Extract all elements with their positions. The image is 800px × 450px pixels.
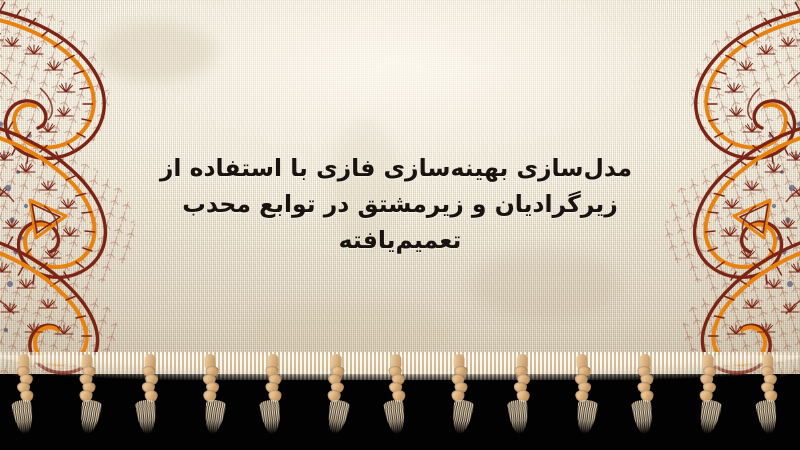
tassel-skirt bbox=[383, 399, 408, 436]
fringe-tassel bbox=[76, 360, 98, 444]
fringe-tassel bbox=[571, 360, 595, 445]
fringe-tassel bbox=[262, 360, 284, 444]
tassel-skirt bbox=[449, 399, 474, 436]
tassel-skirt bbox=[755, 399, 780, 436]
fringe-tassel bbox=[13, 360, 37, 445]
slide-canvas: مدل‌سازی بهینه‌سازی فازی با استفاده از ز… bbox=[0, 0, 800, 450]
title-line-3: تعمیم‌یافته bbox=[168, 222, 632, 258]
fringe-tassel bbox=[323, 360, 347, 445]
tassel-skirt bbox=[574, 399, 598, 435]
tassel-skirt bbox=[507, 399, 530, 435]
tassel-skirt bbox=[135, 399, 158, 435]
fringe-tassel bbox=[634, 360, 656, 444]
tassel-fringe bbox=[0, 360, 800, 450]
tassel-skirt bbox=[325, 399, 351, 436]
tassel-skirt bbox=[202, 399, 226, 435]
fringe-tassel bbox=[448, 360, 470, 444]
title-line-1: مدل‌سازی بهینه‌سازی فازی با استفاده از bbox=[168, 150, 632, 186]
fringe-tassel bbox=[137, 360, 161, 445]
fabric-stain bbox=[250, 300, 450, 360]
fringe-tassel bbox=[695, 360, 719, 445]
tassel-skirt bbox=[697, 399, 723, 436]
slide-title: مدل‌سازی بهینه‌سازی فازی با استفاده از ز… bbox=[168, 150, 632, 258]
title-line-2: زیرگرادیان و زیرمشتق در توابع محدب bbox=[168, 186, 632, 222]
fringe-tassel bbox=[199, 360, 223, 445]
tassel-skirt bbox=[259, 399, 283, 435]
tassel-skirt bbox=[11, 399, 36, 436]
fringe-tassel bbox=[757, 360, 781, 445]
fringe-tassel bbox=[509, 360, 533, 445]
tassel-skirt bbox=[631, 399, 655, 435]
tassel-skirt bbox=[77, 399, 102, 436]
fringe-tassel bbox=[385, 360, 409, 445]
